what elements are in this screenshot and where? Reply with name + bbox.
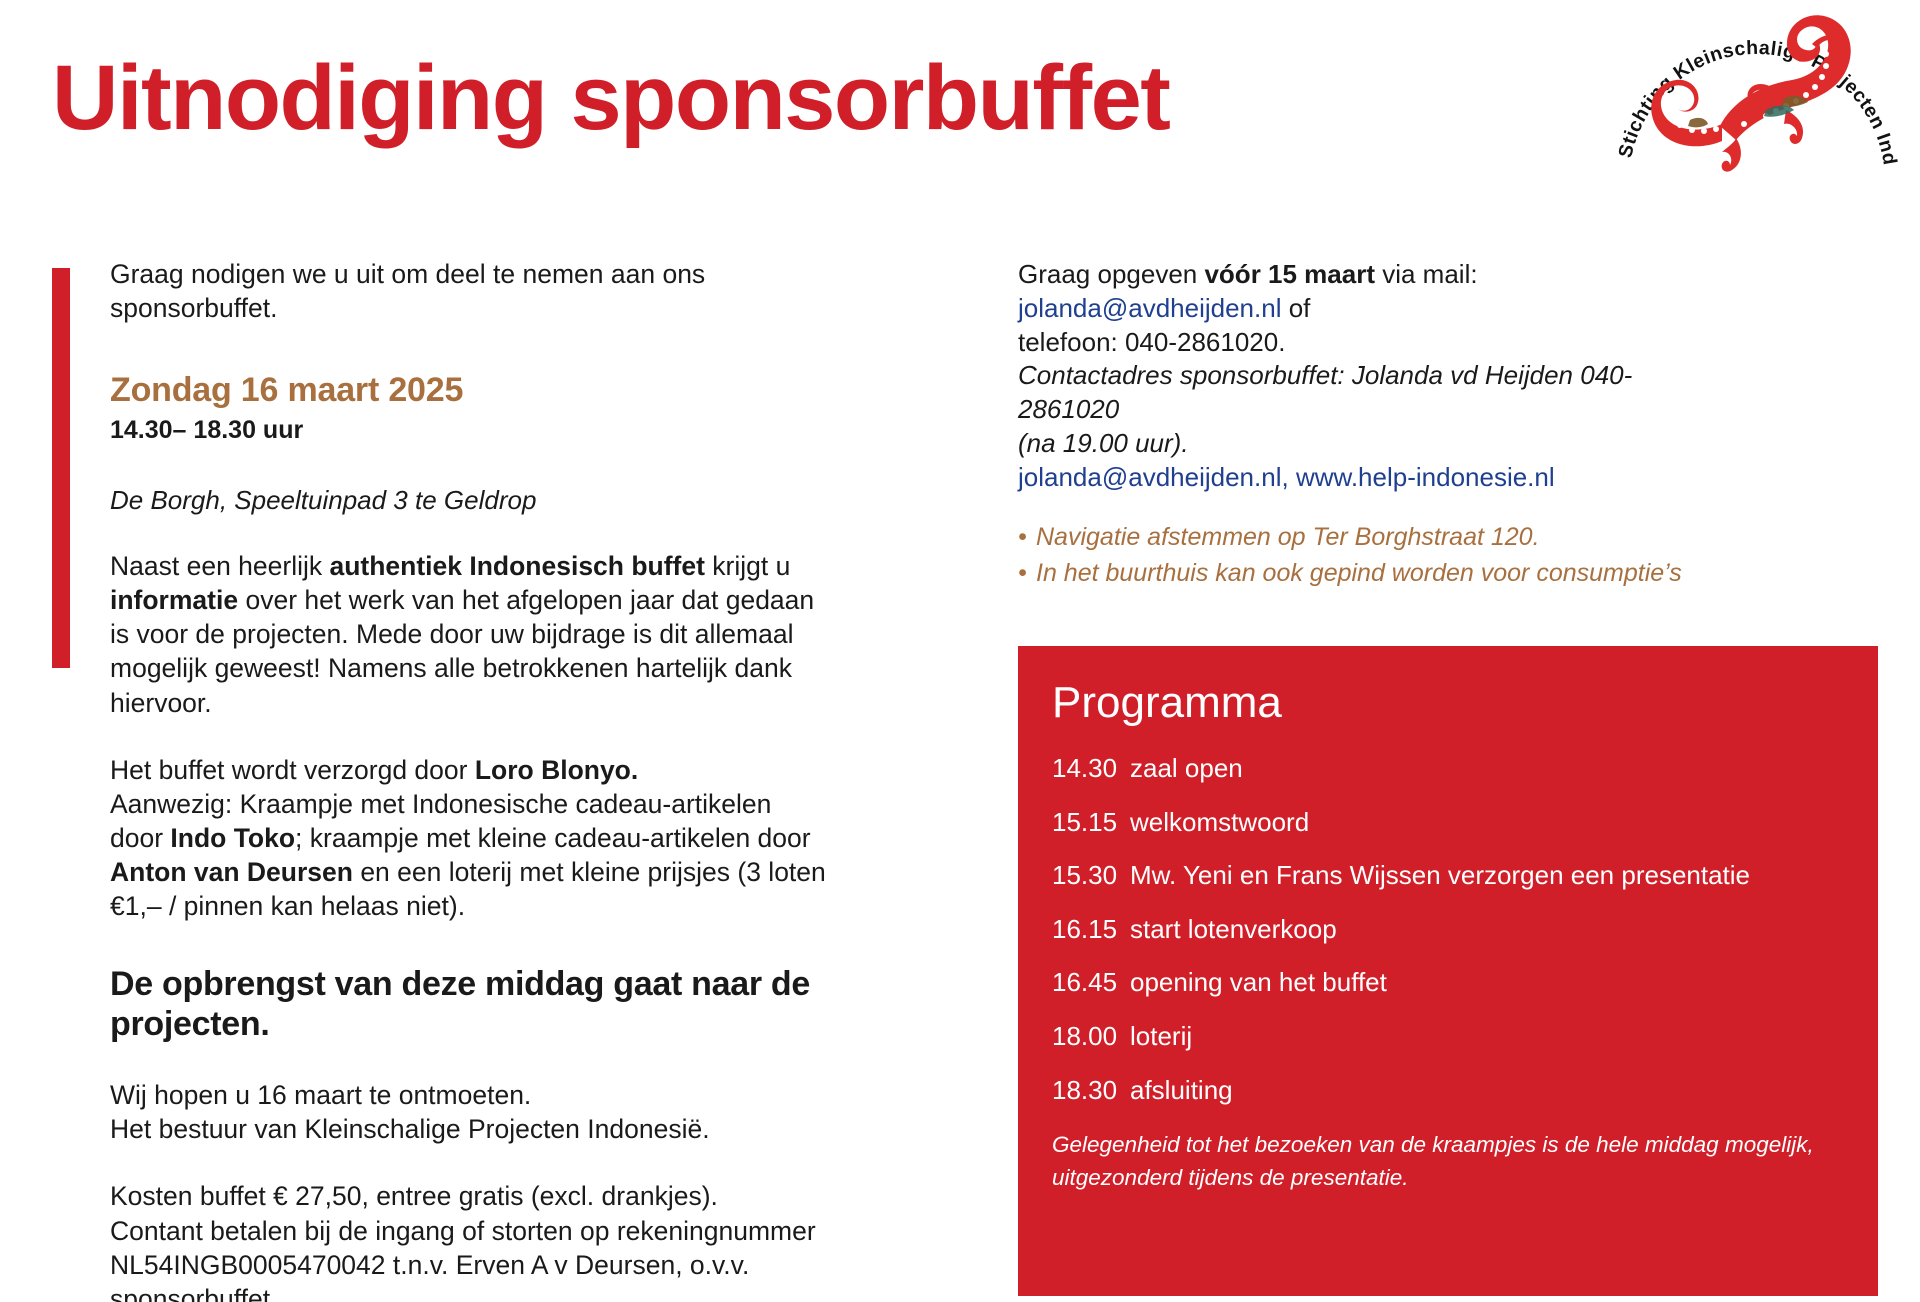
programma-note-line-1: Gelegenheid tot het bezoeken van de kraa… [1052,1132,1814,1157]
red-accent-bar [52,268,70,668]
programma-panel: Programma 14.30 zaal open 15.15 welkomst… [1018,646,1878,1296]
organisation-logo: Stichting Kleinschalige Projecten Indone… [1616,0,1898,178]
programma-desc: zaal open [1130,754,1243,783]
programma-desc: afsluiting [1130,1076,1233,1105]
programma-desc: welkomstwoord [1130,808,1309,837]
programma-note: Gelegenheid tot het bezoeken van de kraa… [1052,1129,1844,1194]
programma-title: Programma [1052,678,1844,728]
signup-mid: via mail: [1375,259,1478,289]
phone-line: telefoon: 040-2861020. [1018,327,1285,357]
contact-line: Contactadres sponsorbuffet: Jolanda vd H… [1018,360,1632,424]
list-item: • In het buurthuis kan ook gepind worden… [1018,556,1878,592]
programma-time: 16.15 [1052,915,1130,944]
p1-bold-info: informatie [110,585,238,615]
signup-paragraph: Graag opgeven vóór 15 maart via mail: jo… [1018,258,1718,495]
programma-row: 18.00 loterij [1052,1022,1844,1051]
poster-page: Uitnodiging sponsorbuffet Stichting Klei… [0,0,1920,1302]
right-column: Graag opgeven vóór 15 maart via mail: jo… [1018,258,1718,495]
programma-row: 15.30 Mw. Yeni en Frans Wijssen verzorge… [1052,861,1844,890]
signup-post: of [1281,293,1310,323]
programma-row: 16.45 opening van het buffet [1052,968,1844,997]
event-time: 14.30– 18.30 uur [110,416,830,445]
p2-pre: Het buffet wordt verzorgd door [110,755,475,785]
programma-desc: Mw. Yeni en Frans Wijssen verzorgen een … [1130,861,1750,890]
buffet-info-paragraph: Naast een heerlijk authentiek Indonesisc… [110,549,830,720]
bullet-icon: • [1018,520,1036,556]
page-title: Uitnodiging sponsorbuffet [52,52,1169,144]
programma-row: 14.30 zaal open [1052,754,1844,783]
programma-row: 16.15 start lotenverkoop [1052,915,1844,944]
p1-pre: Naast een heerlijk [110,551,329,581]
closing-line-2: Het bestuur van Kleinschalige Projecten … [110,1114,710,1144]
bullet-icon: • [1018,556,1036,592]
note-text: In het buurthuis kan ook gepind worden v… [1036,556,1682,592]
signup-pre: Graag opgeven [1018,259,1204,289]
notes-list: • Navigatie afstemmen op Ter Borghstraat… [1018,520,1878,591]
event-venue: De Borgh, Speeltuinpad 3 te Geldrop [110,485,830,516]
link-separator [1289,462,1296,492]
gecko-logo-icon: Stichting Kleinschalige Projecten Indone… [1616,0,1898,178]
signup-deadline: vóór 15 maart [1204,259,1375,289]
programma-note-line-2: uitgezonderd tijdens de presentatie. [1052,1165,1409,1190]
proceeds-statement: De opbrengst van deze middag gaat naar d… [110,964,830,1046]
p2-bold-loro: Loro Blonyo. [475,755,638,785]
closing-paragraph: Wij hopen u 16 maart te ontmoeten.Het be… [110,1078,830,1146]
costs-line-2: Contant betalen bij de ingang of storten… [110,1216,816,1246]
p2-bold-anton: Anton van Deursen [110,857,353,887]
programma-time: 16.45 [1052,968,1130,997]
note-text: Navigatie afstemmen op Ter Borghstraat 1… [1036,520,1540,556]
contact-hours: (na 19.00 uur). [1018,428,1189,458]
costs-paragraph: Kosten buffet € 27,50, entree gratis (ex… [110,1179,830,1302]
intro-text: Graag nodigen we u uit om deel te nemen … [110,258,830,326]
catering-paragraph: Het buffet wordt verzorgd door Loro Blon… [110,753,830,924]
left-column: Graag nodigen we u uit om deel te nemen … [110,258,830,1302]
p1-mid: krijgt u [705,551,790,581]
p2-l3: ; kraampje met kleine cadeau-artikelen d… [295,823,811,853]
costs-line-3: NL54INGB0005470042 t.n.v. Erven A v Deur… [110,1250,749,1280]
signup-email-link[interactable]: jolanda@avdheijden.nl [1018,293,1281,323]
programma-time: 18.30 [1052,1076,1130,1105]
list-item: • Navigatie afstemmen op Ter Borghstraat… [1018,520,1878,556]
costs-line-4: sponsorbuffet. [110,1284,277,1302]
costs-line-1: Kosten buffet € 27,50, entree gratis (ex… [110,1181,718,1211]
programma-time: 15.30 [1052,861,1130,890]
closing-line-1: Wij hopen u 16 maart te ontmoeten. [110,1080,531,1110]
website-link[interactable]: www.help-indonesie.nl [1296,462,1555,492]
programma-time: 18.00 [1052,1022,1130,1051]
programma-time: 14.30 [1052,754,1130,783]
programma-row: 18.30 afsluiting [1052,1076,1844,1105]
programma-desc: start lotenverkoop [1130,915,1337,944]
programma-time: 15.15 [1052,808,1130,837]
programma-row: 15.15 welkomstwoord [1052,808,1844,837]
p2-bold-indotoko: Indo Toko [170,823,295,853]
p1-bold-buffet: authentiek Indonesisch buffet [329,551,704,581]
programma-desc: loterij [1130,1022,1192,1051]
contact-email-link[interactable]: jolanda@avdheijden.nl, [1018,462,1289,492]
event-date: Zondag 16 maart 2025 [110,371,830,410]
programma-desc: opening van het buffet [1130,968,1387,997]
